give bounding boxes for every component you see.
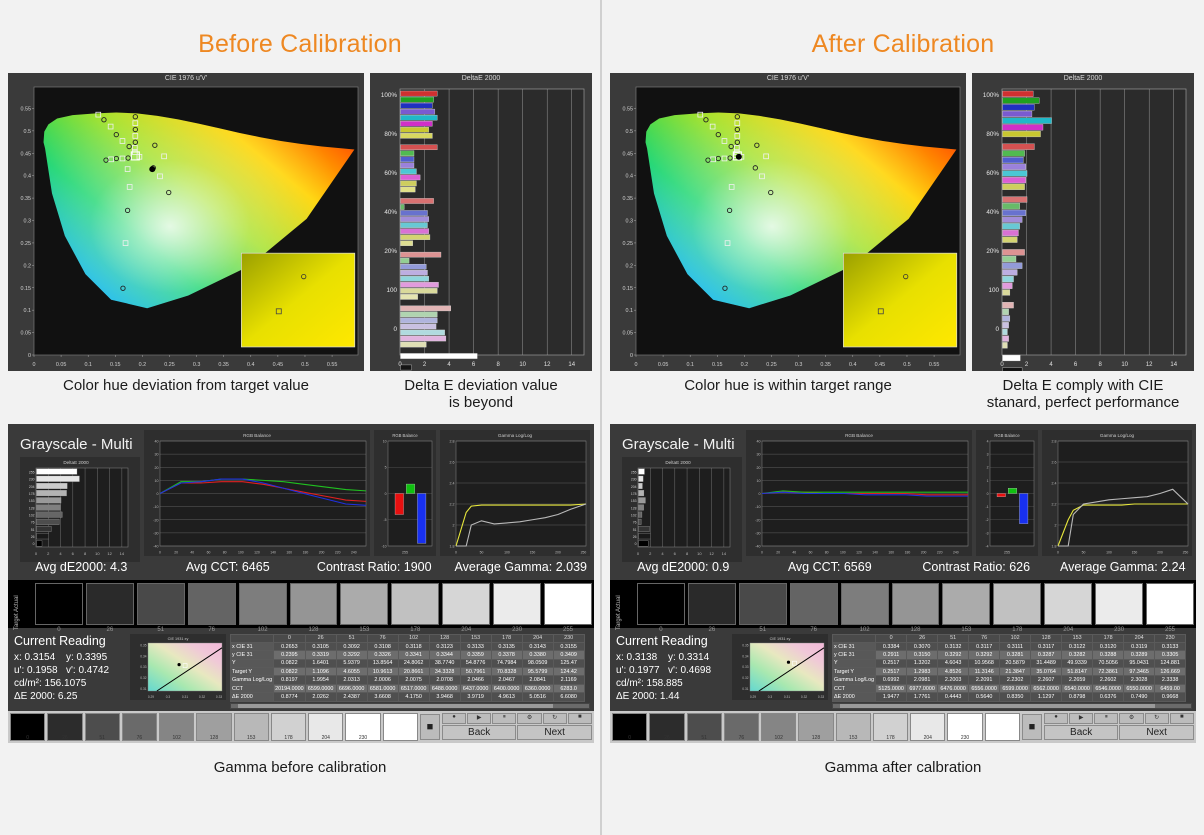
toolbar-swatch[interactable]: 204: [910, 713, 945, 741]
svg-text:10: 10: [519, 362, 526, 368]
table-row: Y0.25171.32024.604310.956820.587931.4489…: [833, 659, 1186, 667]
table-cell: 4.1750: [398, 693, 429, 701]
svg-text:0: 0: [635, 542, 637, 546]
svg-text:0.55: 0.55: [623, 106, 634, 112]
toolbar-swatch[interactable]: 128: [798, 713, 833, 741]
toolbar-swatch[interactable]: 230: [345, 713, 380, 741]
back-button[interactable]: Back: [1044, 725, 1119, 740]
toolbar-buttons: ●▶⏸⚙↻■BackNext: [1044, 713, 1194, 740]
reading-luminance: cd/m²: 158.885: [616, 677, 668, 690]
panel-after: After CalibrationCIE 1976 u'V'00.050.10.…: [602, 0, 1204, 835]
pause-icon[interactable]: ⏸: [1094, 713, 1118, 724]
table-cell: 1.1096: [305, 668, 336, 676]
bottom-caption: Gamma after calbration: [610, 743, 1196, 776]
table-cell: 0.3384: [876, 642, 907, 650]
table-cell: 38.7740: [429, 659, 460, 667]
table-cell: 0.3135: [491, 642, 522, 650]
toolbar-swatch[interactable]: 153: [836, 713, 871, 741]
current-reading-title: Current Reading: [14, 634, 126, 648]
toolbar-buttons: ●▶⏸⚙↻■BackNext: [442, 713, 592, 740]
play-icon[interactable]: ▶: [1069, 713, 1093, 724]
toolbar-swatch[interactable]: 102: [159, 713, 194, 741]
svg-text:40: 40: [190, 550, 194, 554]
svg-text:0.32: 0.32: [140, 676, 146, 680]
toolbar-swatch-label: 51: [86, 735, 119, 741]
svg-text:0.25: 0.25: [623, 241, 634, 247]
svg-text:40%: 40%: [384, 209, 397, 216]
stop-icon[interactable]: ■: [568, 713, 592, 724]
svg-text:10: 10: [95, 551, 100, 556]
reading-u: u': 0.1958: [14, 664, 66, 677]
table-corner: [833, 634, 876, 642]
svg-text:102: 102: [29, 513, 35, 517]
svg-text:0.35: 0.35: [623, 196, 634, 202]
svg-text:0.3: 0.3: [768, 695, 773, 699]
svg-text:0.15: 0.15: [712, 362, 723, 368]
svg-text:200: 200: [555, 550, 561, 554]
toolbar-swatch-white[interactable]: [383, 713, 418, 741]
deltae-chart-title: DeltaE 2000: [370, 75, 592, 82]
table-cell: 0.3359: [460, 651, 491, 659]
svg-text:0: 0: [1057, 550, 1059, 554]
table-cell: 10.9568: [969, 659, 1000, 667]
table-cell: 0.3111: [1000, 642, 1031, 650]
svg-text:240: 240: [351, 550, 357, 554]
table-cell: 0.8774: [274, 693, 305, 701]
table-cell: 1.7761: [907, 693, 938, 701]
table-cell: 3.9468: [429, 693, 460, 701]
svg-text:0: 0: [157, 492, 159, 496]
svg-text:200: 200: [1157, 550, 1163, 554]
toolbar-swatch[interactable]: 102: [761, 713, 796, 741]
current-reading-row: Current Readingx: 0.3138y: 0.3314u': 0.1…: [610, 628, 1196, 711]
grayscale-swatch-strip: ActualTarget0265176102128153178204230255: [610, 580, 1196, 628]
svg-text:0: 0: [159, 550, 161, 554]
toolbar-nav-row: BackNext: [442, 725, 592, 740]
table-cell: 0.3341: [398, 651, 429, 659]
measurement-table: 0265176102128153178204230x CIE 310.33840…: [832, 634, 1186, 702]
gamma-loglog-chart: Gamma Log/Log2.82.62.42.221.805010015020…: [440, 430, 590, 556]
table-col-header: 76: [367, 634, 398, 642]
table-row: ΔE 20001.94771.77610.44430.56400.83501.1…: [833, 693, 1186, 701]
svg-text:120: 120: [254, 550, 260, 554]
next-button[interactable]: Next: [1119, 725, 1194, 740]
calibration-app-window: Grayscale - MultiDeltaE 2000024681012142…: [8, 424, 594, 743]
table-cell: 4.9613: [491, 693, 522, 701]
table-cell: 5.0516: [522, 693, 553, 701]
swatch-axis-labels: ActualTarget: [10, 583, 32, 625]
svg-text:51: 51: [31, 527, 35, 531]
grayscale-swatch: 153: [340, 583, 388, 625]
toolbar-swatch-label: 178: [272, 735, 305, 741]
table-col-header: 230: [1155, 634, 1186, 642]
bottom-toolbar: 0265176102128153178204230■●▶⏸⚙↻■BackNext: [610, 711, 1196, 743]
table-row: Target Y0.08221.10964.605510.961320.8661…: [231, 668, 585, 676]
svg-text:10: 10: [757, 478, 761, 482]
toolbar-swatch[interactable]: 26: [649, 713, 684, 741]
table-cell: 0.3288: [1093, 651, 1124, 659]
grayscale-title: Grayscale - Multi: [12, 430, 140, 453]
table-col-header: 26: [907, 634, 938, 642]
svg-text:0.2: 0.2: [626, 263, 634, 269]
toolbar-swatch[interactable]: 0: [612, 713, 647, 741]
toolbar-swatch[interactable]: 128: [196, 713, 231, 741]
toolbar-swatch-label: 51: [688, 735, 721, 741]
reading-line: u': 0.1958v': 0.4742: [14, 664, 126, 677]
stat-average-gamma: Average Gamma: 2.039: [448, 560, 595, 574]
table-row: x CIE 310.33840.30700.31320.31170.31110.…: [833, 642, 1186, 650]
svg-text:60: 60: [809, 550, 813, 554]
table-cell: 0.3105: [305, 642, 336, 650]
app-charts-header: Grayscale - MultiDeltaE 2000024681012142…: [610, 424, 1196, 556]
svg-text:Gamma Log/Log: Gamma Log/Log: [1100, 433, 1135, 438]
svg-text:20: 20: [776, 550, 780, 554]
swatch-label: 128: [291, 627, 337, 633]
svg-text:0.55: 0.55: [929, 362, 940, 368]
table-cell: 1.3202: [907, 659, 938, 667]
toolbar-swatch[interactable]: 26: [47, 713, 82, 741]
svg-text:0.55: 0.55: [21, 106, 32, 112]
table-cell: 0.8798: [1062, 693, 1093, 701]
toolbar-swatch[interactable]: 204: [308, 713, 343, 741]
svg-text:12: 12: [1146, 362, 1153, 368]
svg-text:2.8: 2.8: [1052, 439, 1057, 443]
svg-text:0.15: 0.15: [21, 286, 32, 292]
reading-deltae: ΔE 2000: 6.25: [14, 690, 66, 703]
svg-text:20: 20: [174, 550, 178, 554]
current-reading-title: Current Reading: [616, 634, 728, 648]
rgb-balance-chart: RGB Balance403020100-10-20-30-4002040608…: [144, 430, 370, 556]
table-cell: 6283.0: [553, 684, 584, 692]
svg-text:-10: -10: [153, 505, 158, 509]
svg-text:1.8: 1.8: [450, 544, 455, 548]
swatch-label: 76: [791, 627, 837, 633]
table-cell: 11.3146: [969, 668, 1000, 676]
table-cell: 2.3028: [1124, 676, 1155, 684]
grayscale-swatch: 153: [942, 583, 990, 625]
svg-text:160: 160: [888, 550, 894, 554]
svg-text:1: 1: [987, 478, 989, 482]
table-cell: 1.9477: [876, 693, 907, 701]
table-row: x CIE 310.26530.31050.30920.31080.31180.…: [231, 642, 585, 650]
deltae-caption-line2: stanard, perfect performance: [972, 394, 1194, 411]
svg-text:10: 10: [155, 478, 159, 482]
table-row: y CIE 310.29110.31500.32920.32920.32810.…: [833, 651, 1186, 659]
grayscale-swatch: 0: [35, 583, 83, 625]
table-cell: 2.2602: [1093, 676, 1124, 684]
swatch-axis-actual: Actual: [14, 595, 20, 612]
toolbar-icon-row: ●▶⏸⚙↻■: [1044, 713, 1194, 724]
table-cell: 4.6055: [336, 668, 367, 676]
svg-text:1.8: 1.8: [1052, 544, 1057, 548]
reading-line: cd/m²: 156.1075: [14, 677, 126, 690]
swatch-label: 255: [1147, 627, 1193, 633]
table-cell: 4.8526: [938, 668, 969, 676]
table-col-header: 102: [1000, 634, 1031, 642]
reading-x: x: 0.3154: [14, 651, 66, 664]
svg-text:178: 178: [631, 491, 637, 495]
svg-text:14: 14: [120, 551, 125, 556]
deltae-caption-line1: Delta E deviation value: [370, 377, 592, 394]
table-cell: 2.0075: [398, 676, 429, 684]
svg-text:0.45: 0.45: [21, 151, 32, 157]
table-row: CCT20194.00006599.00006696.00006581.0000…: [231, 684, 585, 692]
table-cell: 50.7961: [460, 668, 491, 676]
toolbar-swatch[interactable]: 178: [271, 713, 306, 741]
rgb-balance-chart: RGB Balance403020100-10-20-30-4002040608…: [746, 430, 972, 556]
table-cell: 70.8328: [491, 668, 522, 676]
record-icon[interactable]: ●: [442, 713, 466, 724]
svg-text:0.35: 0.35: [21, 196, 32, 202]
table-row-header: CCT: [231, 684, 274, 692]
toolbar-swatch[interactable]: 153: [234, 713, 269, 741]
table-cell: 0.3305: [1155, 651, 1186, 659]
back-button[interactable]: Back: [442, 725, 517, 740]
svg-text:-3: -3: [985, 531, 988, 535]
svg-text:0: 0: [385, 491, 387, 495]
svg-text:180: 180: [905, 550, 911, 554]
bottom-toolbar: 0265176102128153178204230■●▶⏸⚙↻■BackNext: [8, 711, 594, 743]
table-cell: 0.7490: [1124, 693, 1155, 701]
toolbar-swatch-white[interactable]: [985, 713, 1020, 741]
table-cell: 0.3409: [553, 651, 584, 659]
svg-text:128: 128: [631, 506, 637, 510]
table-cell: 98.0509: [522, 659, 553, 667]
swatch-label: 0: [36, 627, 82, 633]
table-col-header: 51: [938, 634, 969, 642]
svg-text:-5: -5: [383, 518, 386, 522]
table-col-header: 128: [429, 634, 460, 642]
table-cell: 2.2091: [969, 676, 1000, 684]
table-cell: 13.8564: [367, 659, 398, 667]
svg-text:0.4: 0.4: [24, 174, 32, 180]
table-col-header: 51: [336, 634, 367, 642]
svg-text:-2: -2: [985, 518, 988, 522]
table-cell: 2.2659: [1062, 676, 1093, 684]
table-cell: 0.3155: [553, 642, 584, 650]
toolbar-swatch[interactable]: 178: [873, 713, 908, 741]
svg-text:14: 14: [1170, 362, 1177, 368]
record-icon[interactable]: ●: [1044, 713, 1068, 724]
stop-icon[interactable]: ■: [420, 714, 440, 740]
table-row-header: y CIE 31: [833, 651, 876, 659]
grayscale-swatch: 26: [86, 583, 134, 625]
table-cell: 2.0981: [907, 676, 938, 684]
cie-chart-title: CIE 1976 u'V': [610, 75, 966, 82]
panel-heading-before: Before Calibration: [8, 0, 592, 73]
svg-text:30: 30: [757, 452, 761, 456]
svg-text:2.6: 2.6: [450, 460, 455, 464]
svg-text:RGB Balance: RGB Balance: [994, 433, 1020, 438]
table-cell: 2.0006: [367, 676, 398, 684]
table-cell: 0.8197: [274, 676, 305, 684]
refresh-icon[interactable]: ↻: [1145, 713, 1169, 724]
svg-text:RGB Balance: RGB Balance: [243, 433, 271, 438]
svg-text:20%: 20%: [384, 248, 397, 255]
scrollbar-thumb[interactable]: [238, 704, 553, 708]
calibration-app-window: Grayscale - MultiDeltaE 2000024681012142…: [610, 424, 1196, 743]
pause-icon[interactable]: ⏸: [492, 713, 516, 724]
svg-text:230: 230: [631, 477, 637, 481]
current-reading-row: Current Readingx: 0.3154y: 0.3395u': 0.1…: [8, 628, 594, 711]
grayscale-swatch: 51: [137, 583, 185, 625]
svg-text:3: 3: [987, 452, 989, 456]
table-cell: 6.6080: [553, 693, 584, 701]
toolbar-swatch[interactable]: 230: [947, 713, 982, 741]
svg-text:0.32: 0.32: [742, 676, 748, 680]
svg-text:12: 12: [544, 362, 551, 368]
next-button[interactable]: Next: [517, 725, 592, 740]
svg-text:0: 0: [630, 353, 633, 359]
svg-text:0.05: 0.05: [658, 362, 669, 368]
reading-v: v': 0.4742: [66, 665, 109, 676]
svg-text:0.3: 0.3: [795, 362, 803, 368]
cie-chart-title: CIE 1976 u'V': [8, 75, 364, 82]
grayscale-swatch: 204: [442, 583, 490, 625]
table-cell: 0.3292: [938, 651, 969, 659]
table-cell: 2.0466: [460, 676, 491, 684]
refresh-icon[interactable]: ↻: [543, 713, 567, 724]
svg-text:100: 100: [1106, 550, 1112, 554]
svg-text:2.4: 2.4: [1052, 481, 1057, 485]
table-cell: 6360.0000: [522, 684, 553, 692]
toolbar-swatch[interactable]: 51: [687, 713, 722, 741]
table-cell: 2.2302: [1000, 676, 1031, 684]
grayscale-swatch: 128: [290, 583, 338, 625]
table-cell: 0.3132: [938, 642, 969, 650]
play-icon[interactable]: ▶: [467, 713, 491, 724]
table-cell: 95.5799: [522, 668, 553, 676]
settings-icon[interactable]: ⚙: [517, 713, 541, 724]
deltae-caption: Delta E deviation valueis beyond: [370, 375, 592, 414]
svg-text:150: 150: [1132, 550, 1138, 554]
swatch-label: 51: [740, 627, 786, 633]
swatch-axis-actual: Actual: [616, 595, 622, 612]
stat-avg-cct: Avg CCT: 6569: [757, 560, 904, 574]
svg-text:250: 250: [581, 550, 587, 554]
reading-deltae: ΔE 2000: 1.44: [616, 690, 668, 703]
settings-icon[interactable]: ⚙: [1119, 713, 1143, 724]
svg-text:0.05: 0.05: [21, 331, 32, 337]
svg-text:0.35: 0.35: [218, 362, 229, 368]
svg-text:140: 140: [270, 550, 276, 554]
grayscale-left: Grayscale - MultiDeltaE 2000024681012142…: [12, 430, 140, 556]
svg-text:0.05: 0.05: [623, 331, 634, 337]
deltae-2000-chart: 02468101214100%80%60%40%20%1000DeltaE 20…: [972, 73, 1194, 371]
svg-text:-30: -30: [153, 531, 158, 535]
table-col-header: 0: [274, 634, 305, 642]
svg-text:80%: 80%: [384, 131, 397, 138]
reading-luminance: cd/m²: 156.1075: [14, 677, 66, 690]
table-cell: 0.3117: [1031, 642, 1062, 650]
table-cell: 6581.0000: [367, 684, 398, 692]
table-row-header: Target Y: [833, 668, 876, 676]
table-cell: 4.6043: [938, 659, 969, 667]
svg-text:0.5: 0.5: [903, 362, 911, 368]
table-horizontal-scrollbar[interactable]: [230, 703, 590, 709]
grayscale-swatch: 178: [993, 583, 1041, 625]
table-corner: [231, 634, 274, 642]
reading-line: ΔE 2000: 1.44: [616, 690, 728, 703]
svg-text:40%: 40%: [986, 209, 999, 216]
table-cell: 2.0467: [491, 676, 522, 684]
svg-text:220: 220: [335, 550, 341, 554]
table-row: Target Y0.25171.29834.852611.314621.3847…: [833, 668, 1186, 676]
table-cell: 6562.0000: [1031, 684, 1062, 692]
grayscale-swatch: 102: [239, 583, 287, 625]
toolbar-swatch-label: 102: [160, 735, 193, 741]
swatch-label: 51: [138, 627, 184, 633]
reading-line: cd/m²: 158.885: [616, 677, 728, 690]
svg-text:CIE 1931 xy: CIE 1931 xy: [168, 637, 189, 641]
table-cell: 97.3465: [1124, 668, 1155, 676]
svg-text:-20: -20: [153, 518, 158, 522]
stat-avg-de2000: Avg dE2000: 0.9: [610, 560, 757, 574]
svg-text:102: 102: [631, 513, 637, 517]
toolbar-swatch[interactable]: 76: [724, 713, 759, 741]
swatch-label: 128: [893, 627, 939, 633]
svg-text:40: 40: [155, 439, 159, 443]
svg-text:0: 0: [33, 362, 36, 368]
table-cell: 0.2911: [876, 651, 907, 659]
svg-text:10: 10: [1121, 362, 1128, 368]
svg-text:2.8: 2.8: [450, 439, 455, 443]
svg-text:200: 200: [319, 550, 325, 554]
toolbar-swatch-label: 0: [613, 735, 646, 741]
toolbar-swatch-label: 102: [762, 735, 795, 741]
svg-text:0: 0: [995, 326, 999, 333]
svg-text:0.5: 0.5: [24, 129, 32, 135]
svg-text:0: 0: [635, 362, 638, 368]
swatch-label: 153: [943, 627, 989, 633]
svg-text:0.4: 0.4: [626, 174, 634, 180]
swatch-axis-target: Target: [616, 613, 622, 630]
svg-text:0.29: 0.29: [148, 695, 154, 699]
svg-text:0.1: 0.1: [24, 308, 32, 314]
table-col-header: 128: [1031, 634, 1062, 642]
svg-text:0.31: 0.31: [182, 695, 188, 699]
toolbar-swatch[interactable]: 51: [85, 713, 120, 741]
table-row: ΔE 20000.87742.02622.43873.66084.17503.9…: [231, 693, 585, 701]
svg-text:50: 50: [480, 550, 484, 554]
toolbar-swatch[interactable]: 0: [10, 713, 45, 741]
svg-text:255: 255: [29, 470, 35, 474]
stop-icon[interactable]: ■: [1170, 713, 1194, 724]
grayscale-swatch: 255: [544, 583, 592, 625]
svg-text:2.2: 2.2: [1052, 502, 1057, 506]
svg-text:0.05: 0.05: [56, 362, 67, 368]
stop-icon[interactable]: ■: [1022, 714, 1042, 740]
table-cell: 0.2395: [274, 651, 305, 659]
swatch-label: 76: [189, 627, 235, 633]
toolbar-swatch[interactable]: 76: [122, 713, 157, 741]
svg-text:0.33: 0.33: [216, 695, 222, 699]
svg-text:50: 50: [1082, 550, 1086, 554]
svg-text:10: 10: [383, 439, 387, 443]
grayscale-swatch: 76: [188, 583, 236, 625]
table-horizontal-scrollbar[interactable]: [832, 703, 1192, 709]
table-cell: 20194.0000: [274, 684, 305, 692]
table-cell: 35.0764: [1031, 668, 1062, 676]
toolbar-nav-row: BackNext: [1044, 725, 1194, 740]
table-col-header: 204: [1124, 634, 1155, 642]
grayscale-swatch: 230: [493, 583, 541, 625]
scrollbar-thumb[interactable]: [840, 704, 1155, 708]
table-col-header: 230: [553, 634, 584, 642]
svg-text:20: 20: [757, 465, 761, 469]
table-cell: 6546.0000: [1093, 684, 1124, 692]
table-cell: 0.3344: [429, 651, 460, 659]
